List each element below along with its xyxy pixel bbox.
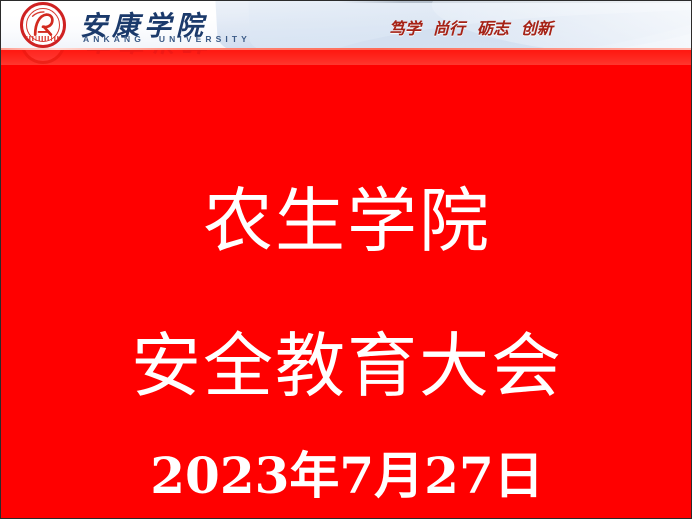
reflection-university-name-chinese: 安康学院 bbox=[80, 48, 208, 62]
slide-title-line-1: 农生学院 bbox=[1, 186, 692, 256]
motto-word-4: 创新 bbox=[521, 19, 553, 38]
header-top-rule bbox=[338, 1, 692, 3]
slide-date: 2023年7月27日 bbox=[1, 451, 692, 501]
university-name-english: ANKANGUNIVERSITY bbox=[83, 34, 251, 44]
slide-header-banner: 安康学院 ANKANGUNIVERSITY 笃学尚行砺志创新 bbox=[1, 1, 692, 48]
seal-ring-microtext bbox=[26, 36, 60, 41]
header-banner-reflection: 安康学院 ANKANGUNIVERSITY 笃学尚行砺志创新 bbox=[1, 48, 692, 65]
slide-body: 农生学院 安全教育大会 2023年7月27日 bbox=[1, 65, 692, 518]
motto-word-3: 砺志 bbox=[477, 19, 509, 38]
university-motto: 笃学尚行砺志创新 bbox=[389, 15, 553, 39]
banner-bottom-highlight bbox=[1, 48, 692, 50]
university-name-english-part1: ANKANG bbox=[83, 34, 145, 44]
slide-title-line-2: 安全教育大会 bbox=[1, 331, 692, 401]
university-name-english-part2: UNIVERSITY bbox=[159, 34, 251, 44]
header-reflection-inner: 安康学院 ANKANGUNIVERSITY 笃学尚行砺志创新 bbox=[1, 48, 692, 65]
motto-word-1: 笃学 bbox=[389, 19, 421, 38]
motto-word-2: 尚行 bbox=[433, 19, 465, 38]
presentation-slide: 安康学院 ANKANGUNIVERSITY 笃学尚行砺志创新 安康学院 ANKA… bbox=[0, 0, 692, 519]
ankang-university-seal-icon bbox=[20, 2, 66, 48]
